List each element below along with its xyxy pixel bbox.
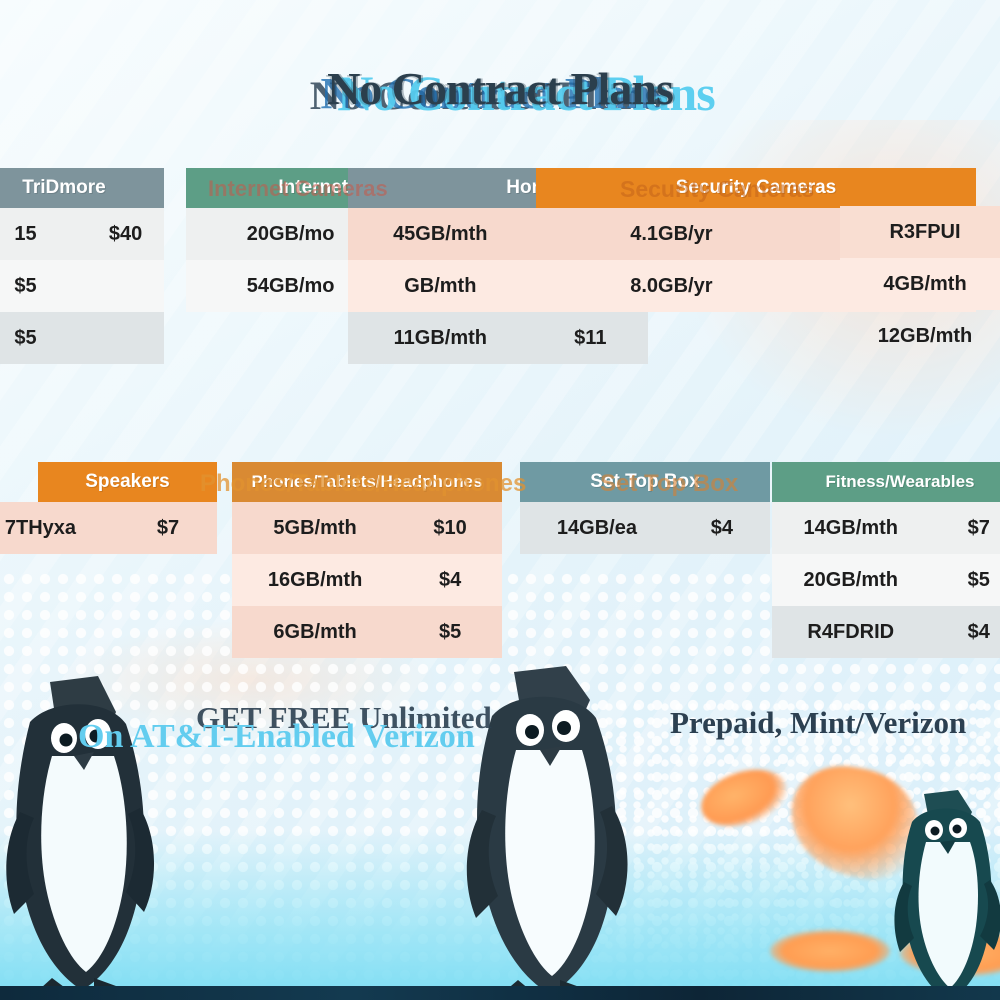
table-row[interactable]: 14GB/mth $7 — [772, 502, 1000, 554]
table-fitness-wearables: Fitness/Wearables 14GB/mth $7 20GB/mth $… — [772, 462, 1000, 658]
cell-label: $5 — [0, 327, 87, 350]
cell-label: 15 — [0, 223, 87, 246]
caption-left-cyan: On AT&T-Enabled Verizon — [78, 718, 475, 756]
cell-label: 16GB/mth — [232, 569, 398, 592]
table-row[interactable]: 5GB/mth $10 — [232, 502, 502, 554]
cell-value: $10 — [398, 517, 502, 540]
penguin-right — [886, 788, 1000, 1000]
table-header-fitness-wearables: Fitness/Wearables — [772, 462, 1000, 502]
table-set-top-box: Set Top Box 14GB/ea $4 — [520, 462, 770, 554]
caption-right-dark: Prepaid, Mint/Verizon — [670, 705, 966, 741]
bottom-bar — [0, 986, 1000, 1000]
cell-label: 6GB/mth — [232, 621, 398, 644]
cell-value: $40 — [87, 223, 164, 246]
cell-value: $7 — [119, 517, 217, 540]
cell-label: 5GB/mth — [232, 517, 398, 540]
table-speakers: Speakers 7THyxa $7 — [0, 462, 217, 554]
page-title: No Contract Plans No Contract Plans No C… — [0, 38, 1000, 118]
table-row[interactable]: R3FPUI — [840, 206, 1000, 258]
table-header-set-top-box: Set Top Box — [520, 462, 770, 502]
table-row[interactable]: 20GB/mth $5 — [772, 554, 1000, 606]
cell-label: 20GB/mth — [772, 569, 930, 592]
cell-label: 4.1GB/yr — [536, 223, 807, 246]
table-header-security-cameras: Security Cameras — [536, 168, 976, 208]
cell-label: 7THyxa — [0, 517, 119, 540]
cell-value: $11 — [533, 327, 648, 350]
page-title-ghost-a: No Contract Plans — [0, 62, 1000, 115]
table-row[interactable]: 6GB/mth $5 — [232, 606, 502, 658]
page-canvas: No Contract Plans No Contract Plans No C… — [0, 0, 1000, 1000]
cell-label: $5 — [0, 275, 87, 298]
cell-label: 8.0GB/yr — [536, 275, 807, 298]
table-row[interactable]: 16GB/mth $4 — [232, 554, 502, 606]
table-header-phones-tablets-headphones: Phones/Tablets/Headphones — [232, 462, 502, 502]
cell-label: GB/mth — [348, 275, 533, 298]
cell-value: $4 — [930, 621, 1000, 644]
table-row[interactable]: 4GB/mth — [840, 258, 1000, 310]
cell-value: $7 — [930, 517, 1000, 540]
table-header-left-small: TriDmore — [0, 168, 164, 208]
table-row[interactable]: 12GB/mth — [840, 310, 1000, 362]
cell-value: $5 — [930, 569, 1000, 592]
cell-value: $5 — [398, 621, 502, 644]
table-row[interactable]: R4FDRID $4 — [772, 606, 1000, 658]
table-row[interactable]: $5 — [0, 312, 164, 364]
table-phones-tablets-headphones: Phones/Tablets/Headphones 5GB/mth $10 16… — [232, 462, 502, 658]
table-row[interactable]: $5 — [0, 260, 164, 312]
cell-label: 14GB/mth — [772, 517, 930, 540]
cell-label: 11GB/mth — [348, 327, 533, 350]
table-row[interactable]: 7THyxa $7 — [0, 502, 217, 554]
cell-label: 12GB/mth — [840, 325, 1000, 348]
table-left-small: TriDmore 15 $40 $5 $5 — [0, 168, 164, 364]
cell-label: R4FDRID — [772, 621, 930, 644]
cell-value: $4 — [674, 517, 770, 540]
table-right-edge: R3FPUI 4GB/mth 12GB/mth — [840, 206, 1000, 362]
cell-value: $4 — [398, 569, 502, 592]
cell-label: 14GB/ea — [520, 517, 674, 540]
table-header-speakers: Speakers — [38, 462, 217, 502]
table-row[interactable]: 15 $40 — [0, 208, 164, 260]
orange-blob-3 — [770, 930, 890, 972]
cell-label: 4GB/mth — [840, 273, 1000, 296]
cell-label: 45GB/mth — [348, 223, 533, 246]
table-row[interactable]: 14GB/ea $4 — [520, 502, 770, 554]
cell-label: R3FPUI — [840, 221, 1000, 244]
table-row[interactable]: 11GB/mth $11 — [348, 312, 648, 364]
